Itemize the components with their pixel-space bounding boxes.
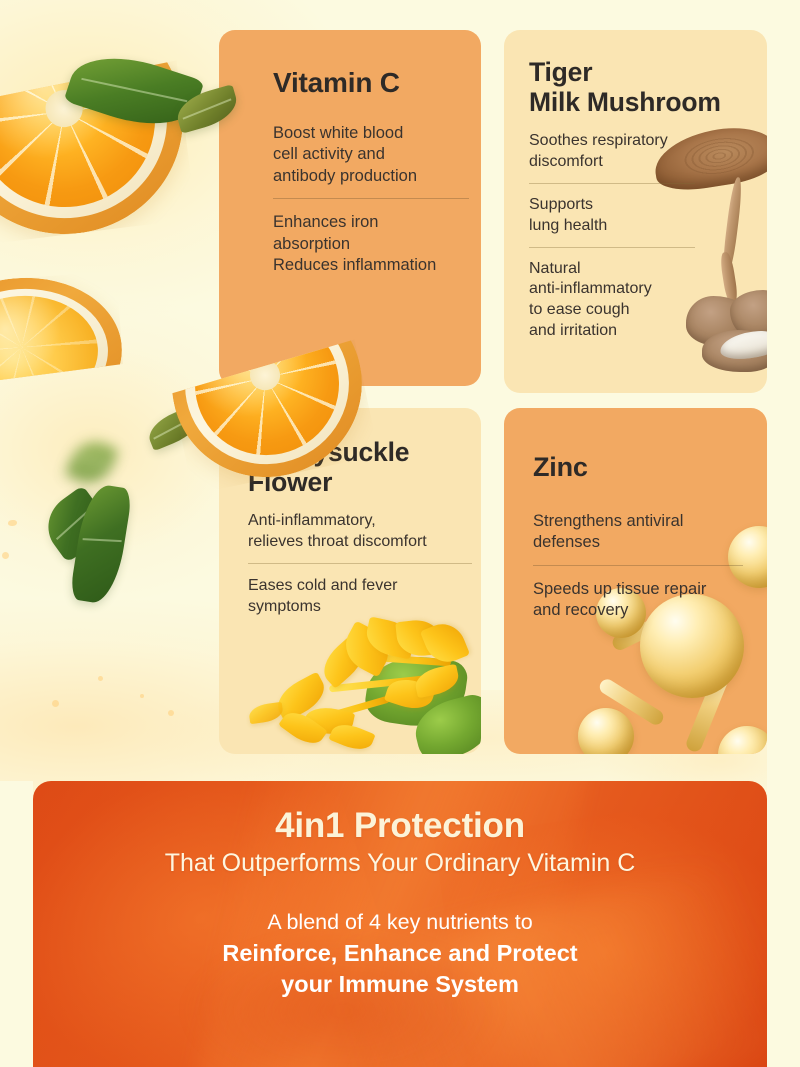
- green-leaf-icon-blurred: [65, 434, 119, 490]
- juice-droplet: [2, 552, 9, 559]
- benefit-item: Enhances iron absorption Reduces inflamm…: [273, 212, 459, 276]
- benefit-item: Boost white blood cell activity and anti…: [273, 123, 459, 187]
- juice-droplet: [8, 520, 17, 526]
- infographic-page: Vitamin C Boost white blood cell activit…: [0, 0, 800, 1067]
- banner-body-line-1: A blend of 4 key nutrients to: [33, 910, 767, 936]
- juice-droplet: [168, 710, 174, 716]
- orange-slice-icon: [0, 271, 127, 435]
- ingredient-card-zinc[interactable]: Zinc Strengthens antiviral defenses Spee…: [504, 408, 767, 754]
- benefit-item: Supports lung health: [529, 195, 751, 237]
- card-title-tiger-milk-mushroom: Tiger Milk Mushroom: [529, 57, 751, 117]
- banner-headline: 4in1 Protection: [33, 807, 767, 845]
- benefit-item: Natural anti-inflammatory to ease cough …: [529, 259, 751, 342]
- orange-slice-icon: [0, 0, 196, 247]
- benefit-list: Anti-inflammatory, relieves throat disco…: [248, 511, 467, 617]
- bottom-promo-banner: 4in1 Protection That Outperforms Your Or…: [33, 781, 767, 1067]
- benefit-list: Strengthens antiviral defenses Speeds up…: [533, 511, 751, 622]
- page-right-margin: [767, 0, 800, 1067]
- juice-droplet: [52, 700, 59, 707]
- benefit-divider: [533, 565, 743, 566]
- benefit-divider: [248, 563, 472, 564]
- juice-droplet: [140, 694, 144, 698]
- honeysuckle-flower-icon-petal: [248, 702, 284, 725]
- banner-body-line-2: Reinforce, Enhance and Protect your Immu…: [33, 938, 767, 999]
- benefit-item: Soothes respiratory discomfort: [529, 131, 751, 173]
- page-left-margin: [0, 781, 33, 1067]
- zinc-molecule-icon-atom: [718, 726, 767, 754]
- benefit-divider: [529, 247, 695, 248]
- benefit-divider: [529, 183, 695, 184]
- benefit-item: Speeds up tissue repair and recovery: [533, 579, 751, 622]
- benefit-item: Strengthens antiviral defenses: [533, 511, 751, 554]
- benefit-item: Anti-inflammatory, relieves throat disco…: [248, 511, 467, 553]
- card-title-vitamin-c: Vitamin C: [273, 67, 459, 99]
- benefit-item: Eases cold and fever symptoms: [248, 576, 467, 618]
- card-title-zinc: Zinc: [533, 452, 751, 483]
- benefit-list: Soothes respiratory discomfort Supports …: [529, 131, 751, 341]
- juice-droplet: [98, 676, 103, 681]
- zinc-molecule-icon-atom: [578, 708, 634, 754]
- banner-subheadline: That Outperforms Your Ordinary Vitamin C: [33, 849, 767, 878]
- ingredient-card-tiger-milk-mushroom[interactable]: Tiger Milk Mushroom Soothes respiratory …: [504, 30, 767, 393]
- benefit-list: Boost white blood cell activity and anti…: [273, 123, 459, 277]
- ingredient-card-vitamin-c[interactable]: Vitamin C Boost white blood cell activit…: [219, 30, 481, 386]
- benefit-divider: [273, 198, 469, 199]
